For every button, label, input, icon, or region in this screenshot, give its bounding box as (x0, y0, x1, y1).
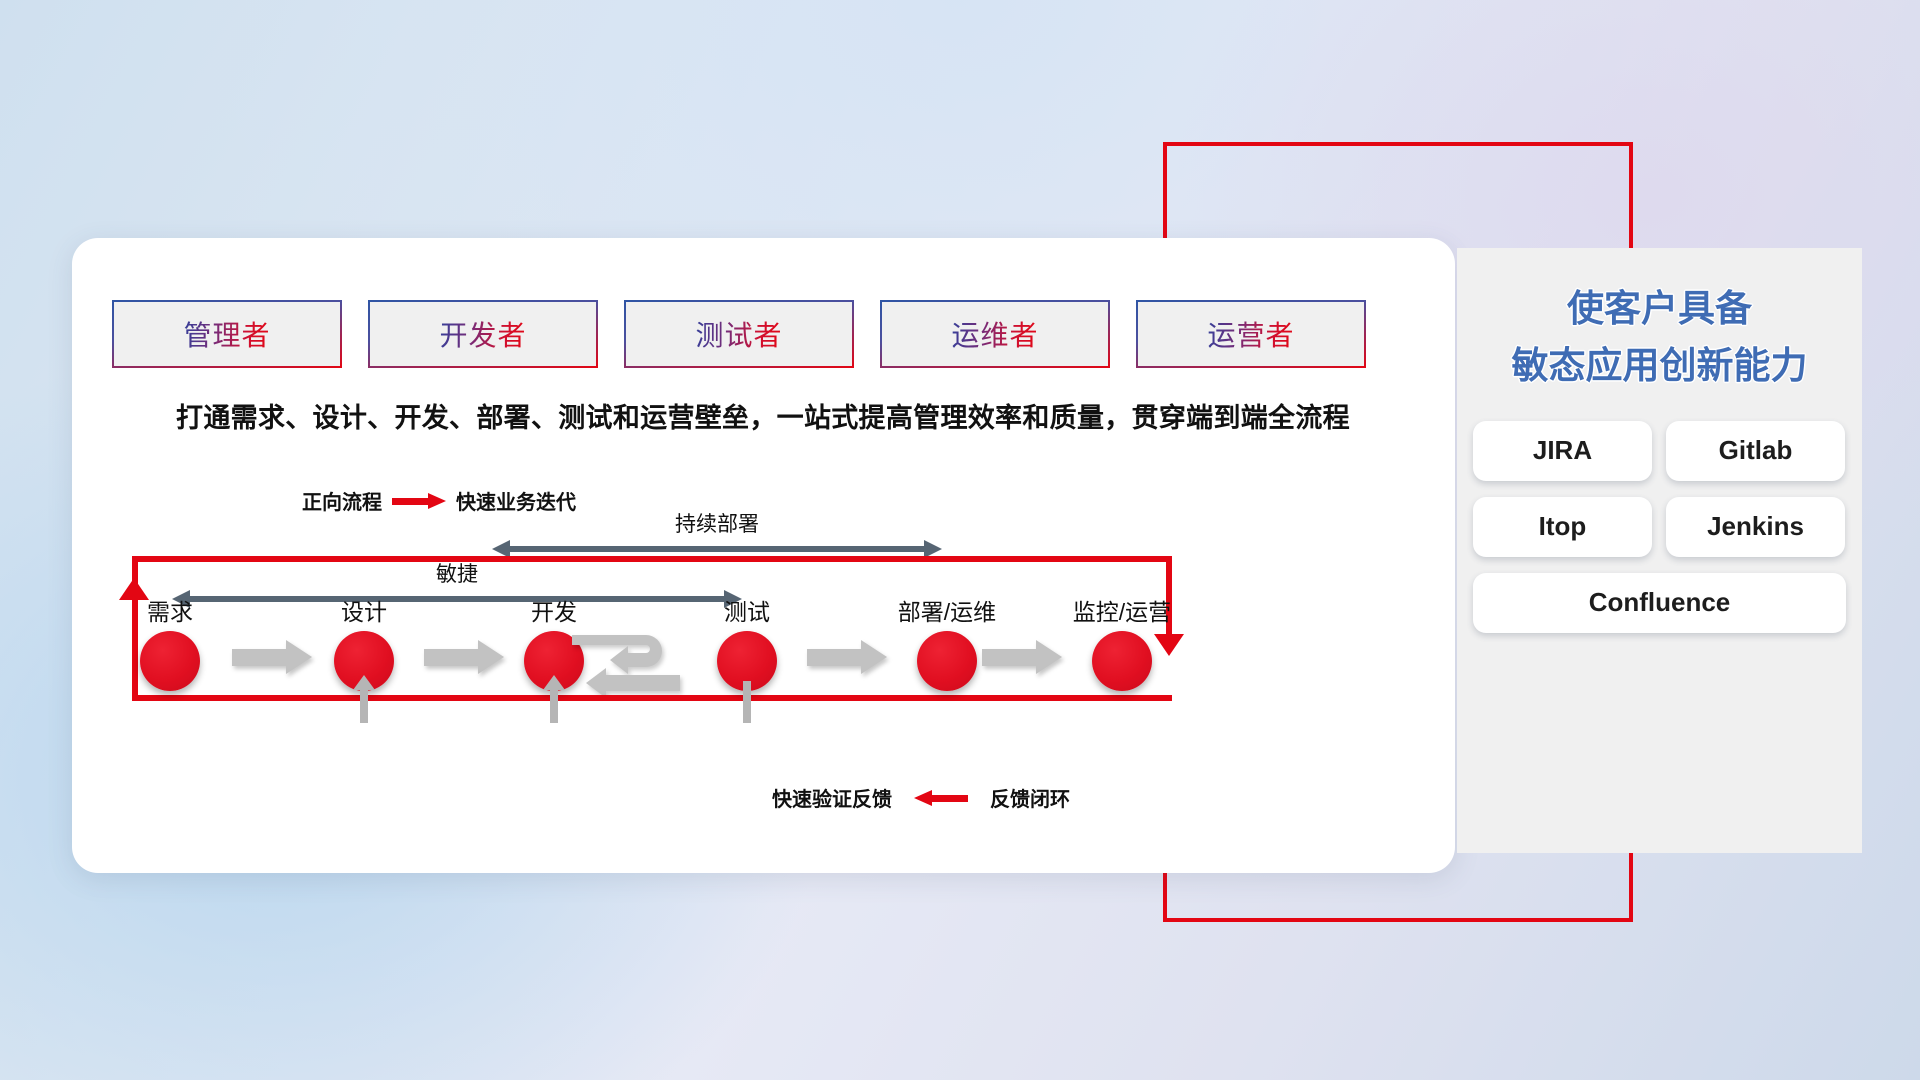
stage-label: 测试 (682, 593, 812, 627)
role-label: 开发者 (439, 314, 526, 354)
band-label: 持续部署 (492, 508, 942, 538)
stage-circle-icon (917, 631, 977, 691)
tool-chip-confluence[interactable]: Confluence (1473, 573, 1846, 633)
flow-arrow-icon (232, 640, 312, 674)
role-label: 测试者 (695, 314, 782, 354)
iteration-loop-arrow-icon (572, 629, 692, 695)
forward-flow-from-label: 正向流程 (302, 486, 382, 515)
tool-chip-group: JIRA Gitlab Itop Jenkins Confluence (1473, 421, 1846, 633)
role-label: 运营者 (1207, 314, 1294, 354)
tool-chip-label: JIRA (1533, 435, 1592, 466)
value-proposition-panel: 使客户具备 敏态应用创新能力 JIRA Gitlab Itop Jenkins … (1457, 248, 1862, 853)
role-label: 运维者 (951, 314, 1038, 354)
tool-chip-label: Confluence (1589, 587, 1731, 618)
stage-label: 设计 (299, 593, 429, 627)
role-box-operator[interactable]: 运营者 (1136, 300, 1366, 368)
tool-chip-label: Itop (1539, 511, 1587, 542)
tool-chip-jira[interactable]: JIRA (1473, 421, 1652, 481)
role-box-developer[interactable]: 开发者 (368, 300, 598, 368)
flow-arrow-icon (424, 640, 504, 674)
role-label: 管理者 (183, 314, 270, 354)
feedback-to-label: 反馈闭环 (990, 783, 1070, 812)
role-box-manager[interactable]: 管理者 (112, 300, 342, 368)
stage-label: 需求 (105, 593, 235, 627)
stage-label: 监控/运营 (1037, 593, 1207, 627)
arrow-left-icon (914, 790, 968, 806)
stage-label: 开发 (489, 593, 619, 627)
tool-chip-itop[interactable]: Itop (1473, 497, 1652, 557)
stage-riser-arrow-icon (353, 675, 375, 690)
flow-arrow-icon (807, 640, 887, 674)
pipeline-stages: 需求 设计 开发 测试 部署/运维 (72, 593, 1455, 723)
stage-riser (743, 681, 751, 723)
card-description: 打通需求、设计、开发、部署、测试和运营壁垒，一站式提高管理效率和质量，贯穿端到端… (108, 396, 1418, 435)
devops-flow-card: 管理者 开发者 测试者 运维者 运营者 打通需求、设计、开发、部署、测试和运营壁… (72, 238, 1455, 873)
tool-chip-gitlab[interactable]: Gitlab (1666, 421, 1845, 481)
slide-canvas: 管理者 开发者 测试者 运维者 运营者 打通需求、设计、开发、部署、测试和运营壁… (0, 0, 1920, 1080)
role-box-tester[interactable]: 测试者 (624, 300, 854, 368)
stage-node-design[interactable]: 设计 (299, 593, 429, 691)
flow-arrow-icon (982, 640, 1062, 674)
stage-circle-icon (1092, 631, 1152, 691)
stage-node-requirements[interactable]: 需求 (105, 593, 235, 691)
stage-label: 部署/运维 (862, 593, 1032, 627)
stage-riser-arrow-icon (543, 675, 565, 690)
panel-title: 使客户具备 敏态应用创新能力 (1457, 280, 1862, 395)
feedback-from-label: 快速验证反馈 (772, 783, 892, 812)
tool-chip-jenkins[interactable]: Jenkins (1666, 497, 1845, 557)
feedback-legend: 快速验证反馈 反馈闭环 (772, 783, 1070, 812)
panel-title-line-1: 使客户具备 (1457, 280, 1862, 337)
role-box-ops[interactable]: 运维者 (880, 300, 1110, 368)
tool-chip-label: Jenkins (1707, 511, 1804, 542)
tool-chip-label: Gitlab (1719, 435, 1793, 466)
arrow-right-icon (392, 493, 446, 509)
stage-node-testing[interactable]: 测试 (682, 593, 812, 691)
role-box-group: 管理者 开发者 测试者 运维者 运营者 (112, 300, 1366, 368)
band-continuous-deployment: 持续部署 (492, 508, 942, 558)
stage-node-monitor-operate[interactable]: 监控/运营 (1037, 593, 1207, 691)
stage-circle-icon (140, 631, 200, 691)
panel-title-line-2: 敏态应用创新能力 (1457, 337, 1862, 394)
